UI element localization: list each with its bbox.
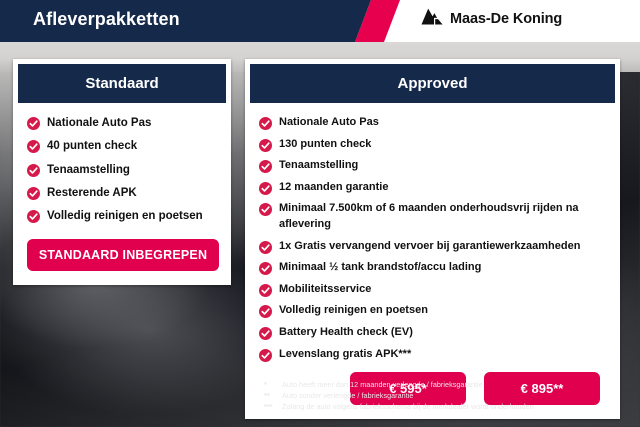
list-item: Levenslang gratis APK*** bbox=[259, 347, 608, 363]
feature-list-standaard: Nationale Auto Pas 40 punten check Tenaa… bbox=[27, 115, 219, 225]
list-item: Resterende APK bbox=[27, 185, 219, 201]
check-circle-icon bbox=[27, 164, 40, 177]
check-circle-icon bbox=[259, 182, 272, 195]
card-heading-approved: Approved bbox=[250, 64, 615, 103]
afleverpakketten-poster: Afleverpakketten Maas-De Koning Standaar… bbox=[0, 0, 640, 427]
feature-label: Minimaal 7.500km of 6 maanden onderhouds… bbox=[279, 201, 608, 232]
check-circle-icon bbox=[259, 117, 272, 130]
feature-label: 130 punten check bbox=[279, 137, 371, 153]
list-item: Minimaal ½ tank brandstof/accu lading bbox=[259, 260, 608, 276]
check-circle-icon bbox=[259, 284, 272, 297]
list-item: Tenaamstelling bbox=[27, 162, 219, 178]
list-item: 40 punten check bbox=[27, 138, 219, 154]
feature-label: Volledig reinigen en poetsen bbox=[47, 208, 203, 224]
footnote-double-asterisk: ** Auto zonder verlengde / fabrieksgaran… bbox=[264, 391, 634, 402]
feature-label: Minimaal ½ tank brandstof/accu lading bbox=[279, 260, 481, 276]
list-item: Nationale Auto Pas bbox=[27, 115, 219, 131]
check-circle-icon bbox=[259, 305, 272, 318]
footnote-text: Auto heeft meer dan 12 maanden verlengde… bbox=[282, 380, 634, 391]
feature-label: Levenslang gratis APK*** bbox=[279, 347, 411, 363]
footnote-triple-asterisk: *** Zolang de auto volgens fabrieksschem… bbox=[264, 402, 634, 413]
card-body-approved: Nationale Auto Pas 130 punten check Tena… bbox=[245, 103, 620, 419]
list-item: Tenaamstelling bbox=[259, 158, 608, 174]
footnote-marker: *** bbox=[264, 402, 282, 413]
feature-label: Tenaamstelling bbox=[279, 158, 358, 174]
standaard-inbegrepen-button[interactable]: STANDAARD INBEGREPEN bbox=[27, 239, 219, 271]
page-title: Afleverpakketten bbox=[33, 9, 180, 30]
list-item: 130 punten check bbox=[259, 137, 608, 153]
package-card-standaard: Standaard Nationale Auto Pas 40 punten c… bbox=[13, 59, 231, 285]
feature-label: Tenaamstelling bbox=[47, 162, 130, 178]
list-item: 12 maanden garantie bbox=[259, 180, 608, 196]
list-item: Mobiliteitsservice bbox=[259, 282, 608, 298]
feature-label: 12 maanden garantie bbox=[279, 180, 388, 196]
check-circle-icon bbox=[259, 262, 272, 275]
footnote-text: Zolang de auto volgens fabrieksschema bi… bbox=[282, 402, 634, 413]
brand-logo: Maas-De Koning bbox=[421, 8, 562, 30]
footnote-single-asterisk: * Auto heeft meer dan 12 maanden verleng… bbox=[264, 380, 634, 391]
list-item: Volledig reinigen en poetsen bbox=[259, 303, 608, 319]
maas-de-koning-mark-icon bbox=[421, 8, 443, 30]
brand-name: Maas-De Koning bbox=[450, 11, 562, 27]
check-circle-icon bbox=[259, 349, 272, 362]
check-circle-icon bbox=[259, 327, 272, 340]
feature-list-approved: Nationale Auto Pas 130 punten check Tena… bbox=[259, 115, 608, 362]
feature-label: Nationale Auto Pas bbox=[279, 115, 379, 131]
card-body-standaard: Nationale Auto Pas 40 punten check Tenaa… bbox=[13, 103, 231, 285]
check-circle-icon bbox=[259, 160, 272, 173]
check-circle-icon bbox=[27, 187, 40, 200]
package-card-approved: Approved Nationale Auto Pas 130 punten c… bbox=[245, 59, 620, 419]
footnote-list: * Auto heeft meer dan 12 maanden verleng… bbox=[264, 380, 634, 413]
feature-label: 40 punten check bbox=[47, 138, 137, 154]
list-item: Minimaal 7.500km of 6 maanden onderhouds… bbox=[259, 201, 608, 232]
list-item: 1x Gratis vervangend vervoer bij garanti… bbox=[259, 239, 608, 255]
check-circle-icon bbox=[27, 210, 40, 223]
list-item: Volledig reinigen en poetsen bbox=[27, 208, 219, 224]
feature-label: Battery Health check (EV) bbox=[279, 325, 413, 341]
feature-label: Resterende APK bbox=[47, 185, 137, 201]
list-item: Nationale Auto Pas bbox=[259, 115, 608, 131]
check-circle-icon bbox=[259, 203, 272, 216]
check-circle-icon bbox=[259, 139, 272, 152]
feature-label: Mobiliteitsservice bbox=[279, 282, 371, 298]
feature-label: Volledig reinigen en poetsen bbox=[279, 303, 428, 319]
check-circle-icon bbox=[27, 117, 40, 130]
footnote-marker: * bbox=[264, 380, 282, 391]
feature-label: 1x Gratis vervangend vervoer bij garanti… bbox=[279, 239, 580, 255]
check-circle-icon bbox=[259, 241, 272, 254]
feature-label: Nationale Auto Pas bbox=[47, 115, 151, 131]
footnote-marker: ** bbox=[264, 391, 282, 402]
card-heading-standaard: Standaard bbox=[18, 64, 226, 103]
list-item: Battery Health check (EV) bbox=[259, 325, 608, 341]
footnote-text: Auto zonder verlengde / fabrieksgarantie bbox=[282, 391, 634, 402]
page-header: Afleverpakketten Maas-De Koning bbox=[0, 0, 640, 42]
check-circle-icon bbox=[27, 140, 40, 153]
